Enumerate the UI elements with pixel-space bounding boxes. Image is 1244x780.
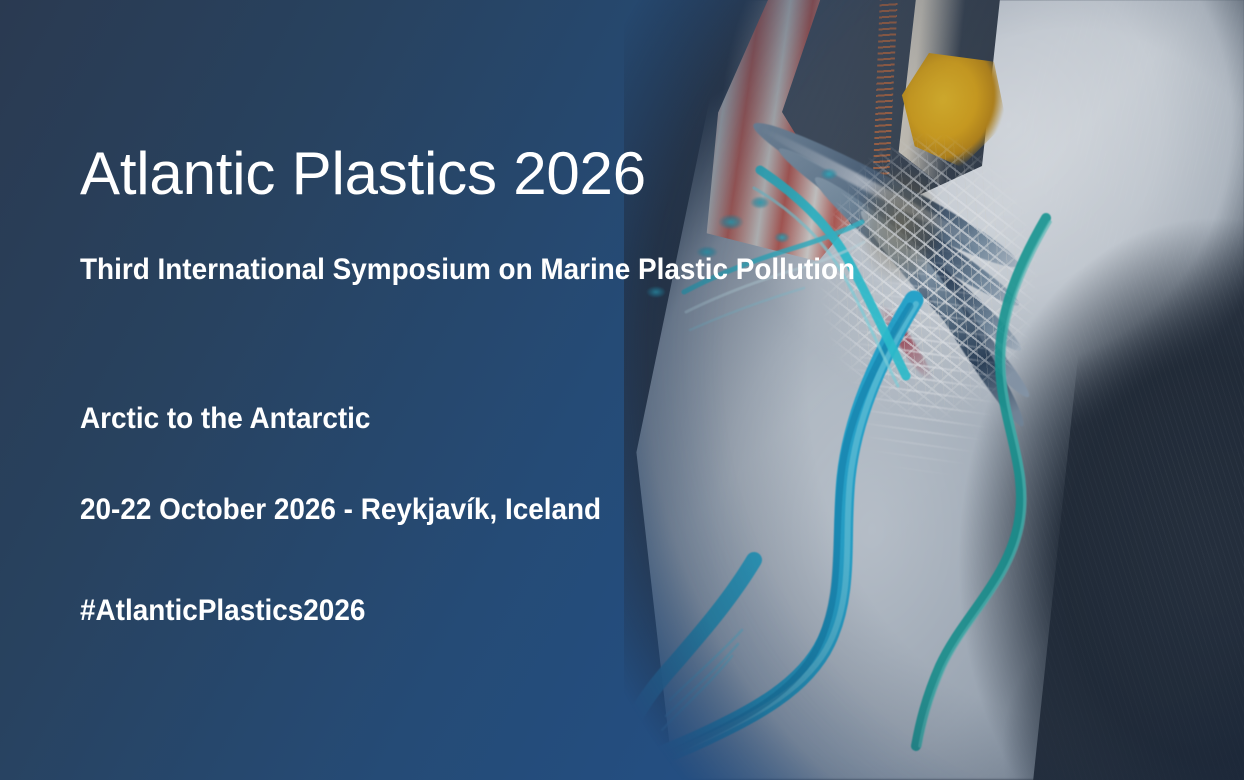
event-theme: Arctic to the Antarctic <box>80 404 370 434</box>
event-date-location: 20-22 October 2026 - Reykjavík, Iceland <box>80 495 601 525</box>
banner-text-block: Atlantic Plastics 2026 Third Internation… <box>80 0 980 780</box>
event-title: Atlantic Plastics 2026 <box>80 144 646 204</box>
event-subtitle: Third International Symposium on Marine … <box>80 250 861 291</box>
event-hashtag: #AtlanticPlastics2026 <box>80 596 365 626</box>
conference-banner: Atlantic Plastics 2026 Third Internation… <box>0 0 1244 780</box>
